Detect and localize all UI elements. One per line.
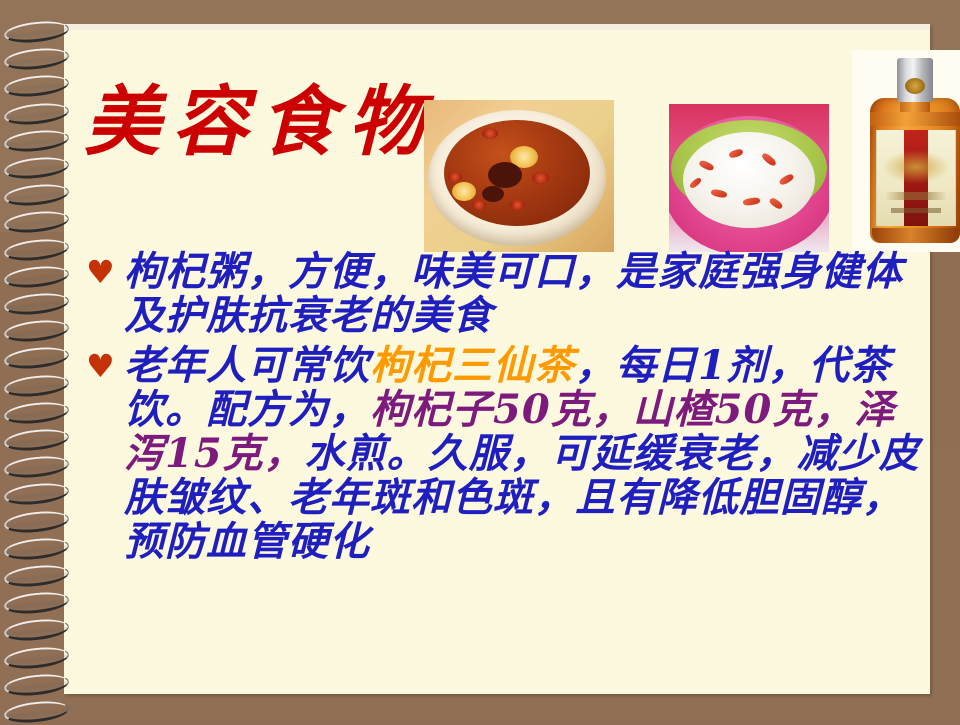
label-gold-emblem xyxy=(882,150,950,184)
goji-berry-shape xyxy=(472,200,486,210)
spiral-coil-ring xyxy=(3,291,70,318)
spiral-coil-ring xyxy=(3,671,70,698)
slide-canvas: 美容食物 xyxy=(0,0,960,720)
spiral-coil-ring xyxy=(3,318,70,345)
bullet-text: 老年人可常饮枸杞三仙茶，每日1剂，代茶饮。配方为，枸杞子50克，山楂50克，泽泻… xyxy=(124,344,930,564)
spiral-coil-ring xyxy=(3,100,70,127)
spiral-coil-ring xyxy=(3,508,70,535)
spiral-coil-ring xyxy=(3,209,70,236)
heart-bullet-icon: ♥ xyxy=(86,350,115,382)
goji-berry-shape xyxy=(532,172,549,184)
spiral-coil-ring xyxy=(3,73,70,100)
spiral-coil-ring xyxy=(3,563,70,590)
goji-liquor-bottle-photo xyxy=(852,50,960,252)
goji-berry-shape xyxy=(482,128,498,139)
goji-chrysanthemum-tea-photo xyxy=(424,100,614,252)
spiral-coil-ring xyxy=(3,345,70,372)
spiral-coil-ring xyxy=(3,454,70,481)
spiral-coil-ring xyxy=(3,19,70,46)
congee-rice-shape xyxy=(683,132,815,228)
dark-jujube-shape xyxy=(488,162,522,188)
goji-congee-photo xyxy=(669,104,829,252)
bullet-run-orange: 枸杞三仙茶 xyxy=(370,342,575,389)
spiral-coil-ring xyxy=(3,236,70,263)
bottle-shoulder-shape xyxy=(870,112,960,126)
spiral-coil-ring xyxy=(3,481,70,508)
spiral-coil-ring xyxy=(3,427,70,454)
list-item: ♥ 老年人可常饮枸杞三仙茶，每日1剂，代茶饮。配方为，枸杞子50克，山楂50克，… xyxy=(76,344,930,564)
spiral-coil-ring xyxy=(3,590,70,617)
notebook-page: 美容食物 xyxy=(64,24,930,694)
dark-jujube-shape xyxy=(482,186,504,202)
list-item: ♥ 枸杞粥，方便，味美可口，是家庭强身健体及护肤抗衰老的美食 xyxy=(76,250,930,338)
spiral-coil-ring xyxy=(3,182,70,209)
spiral-coil-ring xyxy=(3,46,70,73)
bullet-run-blue: 枸杞粥，方便，味美可口，是家庭强身健体及护肤抗衰老的美食 xyxy=(124,248,903,339)
spiral-coil-ring xyxy=(3,155,70,182)
spiral-coil-ring xyxy=(3,644,70,671)
spiral-coil-ring xyxy=(3,372,70,399)
chrysanthemum-flower-icon xyxy=(452,182,476,201)
spiral-coil-ring xyxy=(3,127,70,154)
page-title: 美容食物 xyxy=(84,84,436,160)
label-fineprint-line xyxy=(891,208,941,213)
spiral-coil-ring xyxy=(3,263,70,290)
goji-berry-shape xyxy=(448,172,462,182)
spiral-coil-ring xyxy=(3,535,70,562)
spiral-coil-ring xyxy=(3,617,70,644)
bullet-list: ♥ 枸杞粥，方便，味美可口，是家庭强身健体及护肤抗衰老的美食 ♥ 老年人可常饮枸… xyxy=(76,250,930,570)
label-script-line xyxy=(885,192,947,200)
heart-bullet-icon: ♥ xyxy=(86,256,115,288)
bullet-run-blue: 老年人可常饮 xyxy=(124,342,370,389)
spiral-coil-ring xyxy=(3,699,70,725)
bullet-text: 枸杞粥，方便，味美可口，是家庭强身健体及护肤抗衰老的美食 xyxy=(124,250,930,338)
goji-berry-shape xyxy=(510,200,525,210)
bottle-label-shape xyxy=(876,130,956,226)
spiral-coil-ring xyxy=(3,399,70,426)
bottle-base-shape xyxy=(872,228,958,243)
spiral-binding xyxy=(0,0,64,720)
bottle-cap-seal-icon xyxy=(905,78,925,94)
